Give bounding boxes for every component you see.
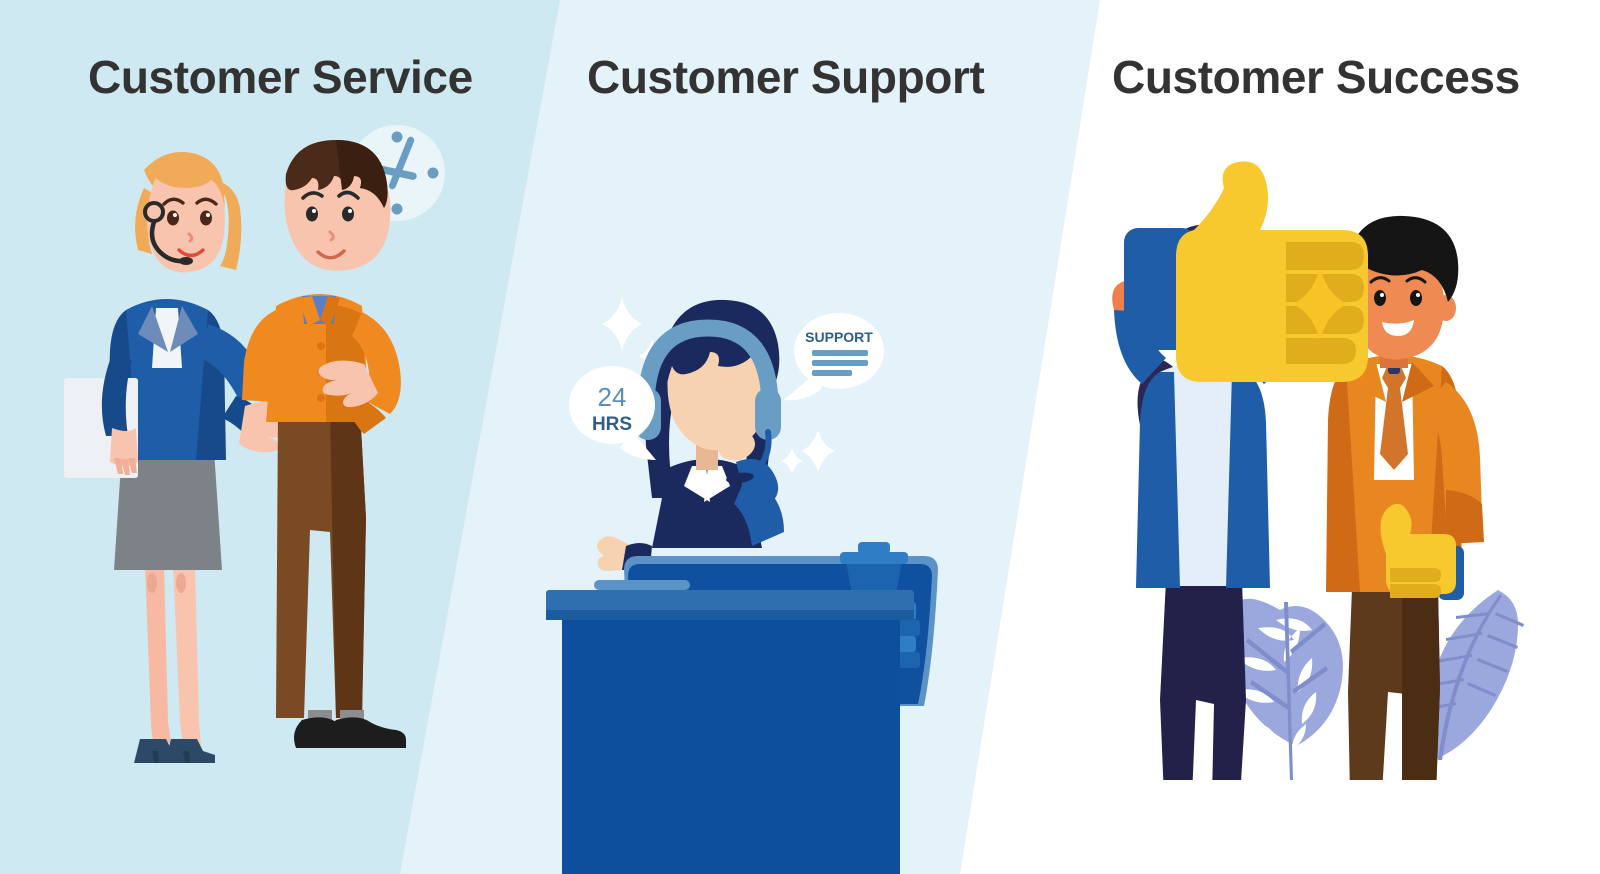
- illustration-customer-service: [40, 110, 510, 770]
- thumbs-up-large: [1124, 161, 1368, 382]
- panel-title-customer-support: Customer Support: [587, 50, 984, 104]
- bubble-label: SUPPORT: [805, 329, 873, 345]
- bubble-24-hrs: 24 HRS: [569, 366, 656, 460]
- bubble-support: SUPPORT: [784, 313, 884, 400]
- figure-service-agent-woman: [64, 152, 298, 763]
- panel-title-customer-success: Customer Success: [1112, 50, 1520, 104]
- illustration-canvas: Customer Service Customer Support Custom…: [0, 0, 1600, 874]
- bubble-line-1: 24: [598, 382, 627, 412]
- bubble-line-2: HRS: [592, 414, 632, 435]
- illustration-customer-support: 24 HRS SUPPORT: [540, 280, 940, 874]
- office-desk: [546, 590, 914, 874]
- keyboard: [594, 580, 690, 590]
- panel-title-customer-service: Customer Service: [88, 50, 473, 104]
- illustration-customer-success: [1090, 150, 1560, 780]
